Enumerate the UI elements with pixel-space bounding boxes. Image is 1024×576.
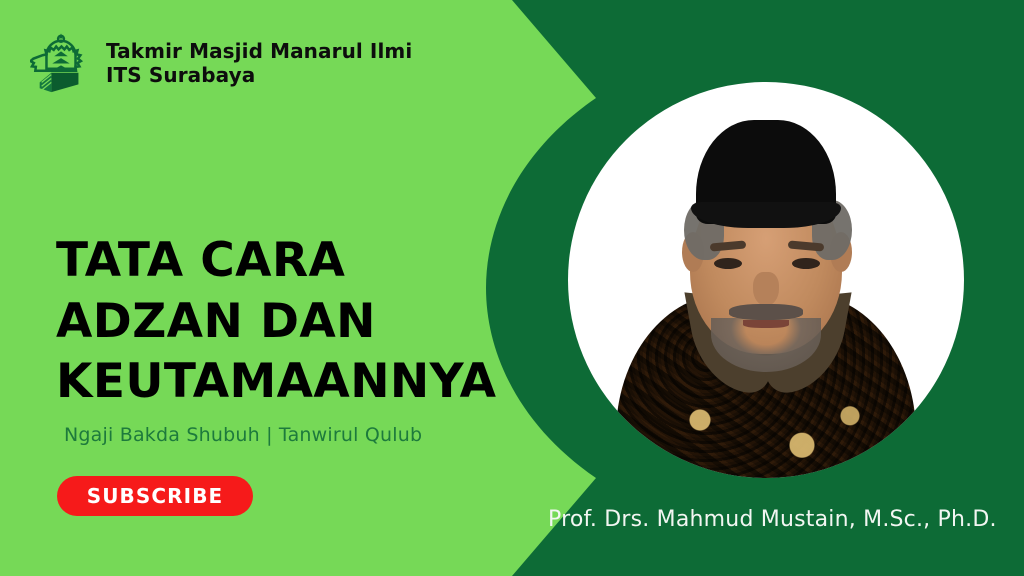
speaker-photo-circle [568, 82, 964, 478]
portrait-eye-right [792, 258, 820, 269]
speaker-portrait [568, 82, 964, 478]
portrait-nose [753, 272, 779, 306]
portrait-mouth [743, 320, 789, 328]
mosque-gear-logo-icon [30, 32, 92, 94]
portrait-moustache [729, 304, 803, 320]
brand-logo-lockup: Takmir Masjid Manarul Ilmi ITS Surabaya [30, 32, 412, 94]
program-subtitle: Ngaji Bakda Shubuh | Tanwirul Qulub [64, 424, 422, 446]
page-title: TATA CARA ADZAN DAN KEUTAMAANNYA [56, 231, 536, 411]
brand-name: Takmir Masjid Manarul Ilmi ITS Surabaya [106, 39, 412, 88]
portrait-eye-left [714, 258, 742, 269]
thumbnail-canvas: Takmir Masjid Manarul Ilmi ITS Surabaya … [0, 0, 1024, 576]
speaker-name: Prof. Drs. Mahmud Mustain, M.Sc., Ph.D. [548, 507, 997, 532]
subscribe-button[interactable]: SUBSCRIBE [57, 476, 253, 516]
